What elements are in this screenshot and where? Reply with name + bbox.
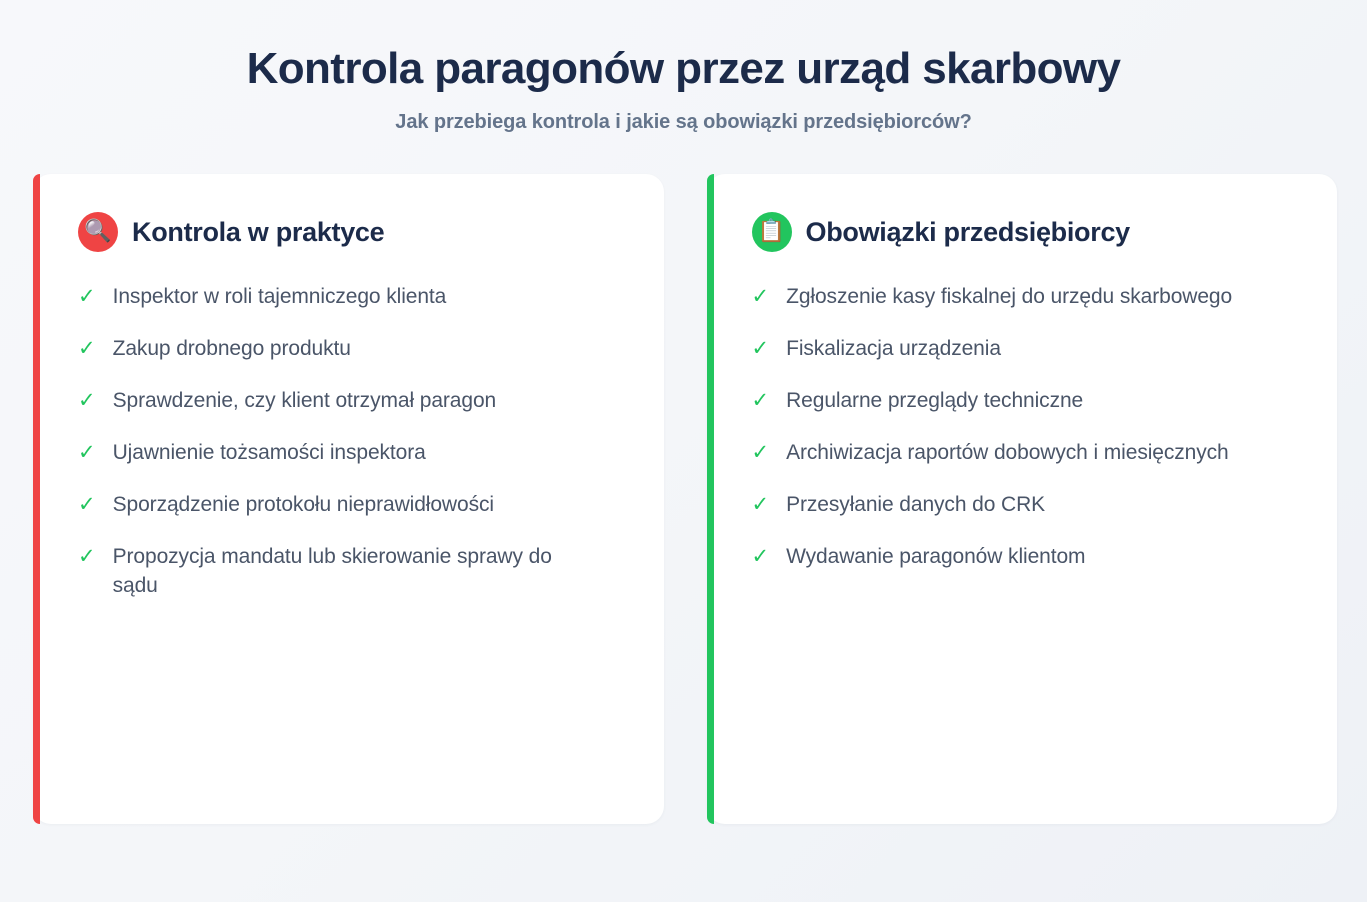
- list-item-label: Ujawnienie tożsamości inspektora: [113, 438, 426, 467]
- list-item: ✓ Ujawnienie tożsamości inspektora: [78, 438, 630, 467]
- check-icon: ✓: [78, 490, 96, 519]
- list-item: ✓ Regularne przeglądy techniczne: [752, 386, 1304, 415]
- page-subtitle: Jak przebiega kontrola i jakie są obowią…: [0, 109, 1367, 135]
- page-header: Kontrola paragonów przez urząd skarbowy …: [0, 0, 1367, 135]
- card-kontrola-w-praktyce: 🔍 Kontrola w praktyce ✓ Inspektor w roli…: [33, 174, 664, 824]
- clipboard-icon: 📋: [752, 212, 792, 252]
- check-icon: ✓: [752, 386, 770, 415]
- check-icon: ✓: [752, 282, 770, 311]
- list-item: ✓ Archiwizacja raportów dobowych i miesi…: [752, 438, 1304, 467]
- check-icon: ✓: [78, 438, 96, 467]
- list-item-label: Zakup drobnego produktu: [113, 334, 351, 363]
- list-item: ✓ Zakup drobnego produktu: [78, 334, 630, 363]
- list-item-label: Regularne przeglądy techniczne: [786, 386, 1083, 415]
- page-title: Kontrola paragonów przez urząd skarbowy: [0, 44, 1367, 93]
- list-item: ✓ Inspektor w roli tajemniczego klienta: [78, 282, 630, 311]
- list-item-label: Inspektor w roli tajemniczego klienta: [113, 282, 447, 311]
- list-item: ✓ Sprawdzenie, czy klient otrzymał parag…: [78, 386, 630, 415]
- list-item-label: Przesyłanie danych do CRK: [786, 490, 1045, 519]
- list-item-label: Fiskalizacja urządzenia: [786, 334, 1001, 363]
- list-item-label: Zgłoszenie kasy fiskalnej do urzędu skar…: [786, 282, 1232, 311]
- check-icon: ✓: [752, 438, 770, 467]
- magnifying-glass-icon: 🔍: [78, 212, 118, 252]
- card-title: Obowiązki przedsiębiorcy: [806, 217, 1130, 248]
- check-icon: ✓: [752, 334, 770, 363]
- card-header: 📋 Obowiązki przedsiębiorcy: [752, 212, 1304, 252]
- card-header: 🔍 Kontrola w praktyce: [78, 212, 630, 252]
- list-item-label: Archiwizacja raportów dobowych i miesięc…: [786, 438, 1229, 467]
- card-obowiazki-przedsiebiorcy: 📋 Obowiązki przedsiębiorcy ✓ Zgłoszenie …: [707, 174, 1338, 824]
- check-icon: ✓: [752, 542, 770, 571]
- check-icon: ✓: [752, 490, 770, 519]
- list-item-label: Wydawanie paragonów klientom: [786, 542, 1085, 571]
- check-icon: ✓: [78, 334, 96, 363]
- list-item-label: Propozycja mandatu lub skierowanie spraw…: [113, 542, 593, 600]
- card-title: Kontrola w praktyce: [132, 217, 384, 248]
- list-item: ✓ Przesyłanie danych do CRK: [752, 490, 1304, 519]
- check-icon: ✓: [78, 282, 96, 311]
- list-item: ✓ Zgłoszenie kasy fiskalnej do urzędu sk…: [752, 282, 1304, 311]
- list-item: ✓ Propozycja mandatu lub skierowanie spr…: [78, 542, 630, 600]
- check-icon: ✓: [78, 542, 96, 571]
- list-item: ✓ Sporządzenie protokołu nieprawidłowośc…: [78, 490, 630, 519]
- infographic-page: Kontrola paragonów przez urząd skarbowy …: [0, 0, 1367, 902]
- list-item-label: Sprawdzenie, czy klient otrzymał paragon: [113, 386, 497, 415]
- checklist: ✓ Inspektor w roli tajemniczego klienta …: [78, 282, 630, 600]
- list-item: ✓ Wydawanie paragonów klientom: [752, 542, 1304, 571]
- checklist: ✓ Zgłoszenie kasy fiskalnej do urzędu sk…: [752, 282, 1304, 571]
- check-icon: ✓: [78, 386, 96, 415]
- list-item: ✓ Fiskalizacja urządzenia: [752, 334, 1304, 363]
- cards-container: 🔍 Kontrola w praktyce ✓ Inspektor w roli…: [0, 135, 1367, 824]
- list-item-label: Sporządzenie protokołu nieprawidłowości: [113, 490, 494, 519]
